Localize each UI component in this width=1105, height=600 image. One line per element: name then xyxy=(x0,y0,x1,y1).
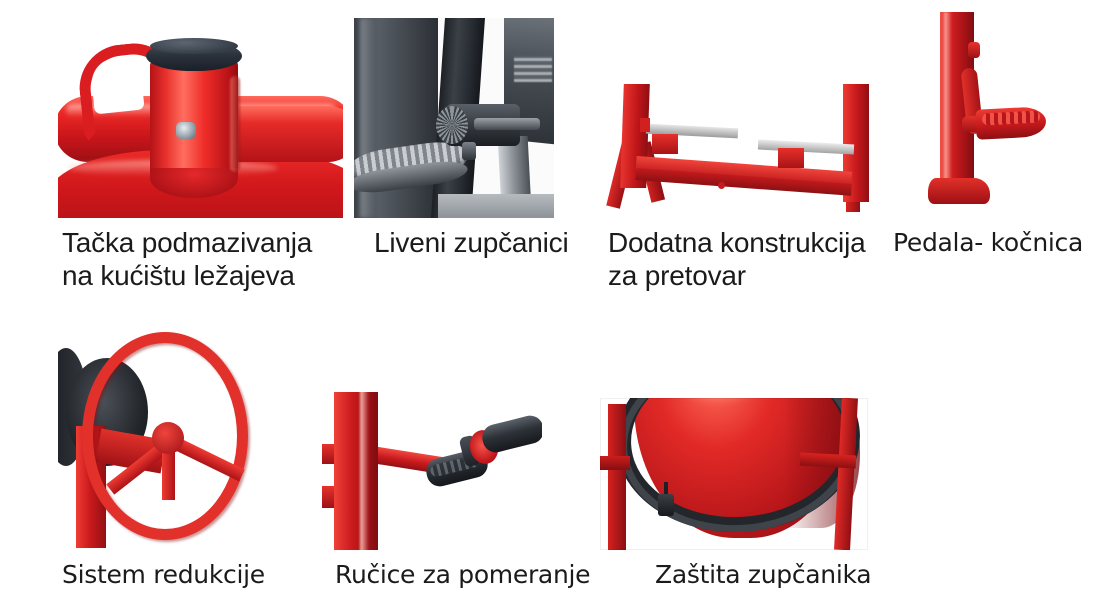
photo-moving-handles xyxy=(322,392,542,550)
feature-photo-grid: Tačka podmazivanja na kućištu ležajeva L… xyxy=(0,0,1105,600)
photo-gear-guard xyxy=(600,398,868,550)
caption-gear-guard: Zaštita zupčanika xyxy=(655,560,935,590)
caption-reduction-system: Sistem redukcije xyxy=(62,560,342,590)
photo-brake-pedal xyxy=(918,12,1058,212)
photo-lubrication-point xyxy=(58,18,343,218)
caption-moving-handles: Ručice za pomeranje xyxy=(335,560,635,590)
photo-reduction-system xyxy=(58,330,293,548)
caption-cast-gears: Liveni zupčanici xyxy=(374,226,594,259)
red-dot-marker xyxy=(718,182,725,189)
photo-cast-gears xyxy=(354,18,554,218)
photo-loading-frame xyxy=(600,82,885,212)
caption-brake-pedal: Pedala- kočnica xyxy=(893,228,1103,258)
caption-loading-frame: Dodatna konstrukcija za pretovar xyxy=(608,226,898,292)
caption-lubrication-point: Tačka podmazivanja na kućištu ležajeva xyxy=(62,226,362,292)
